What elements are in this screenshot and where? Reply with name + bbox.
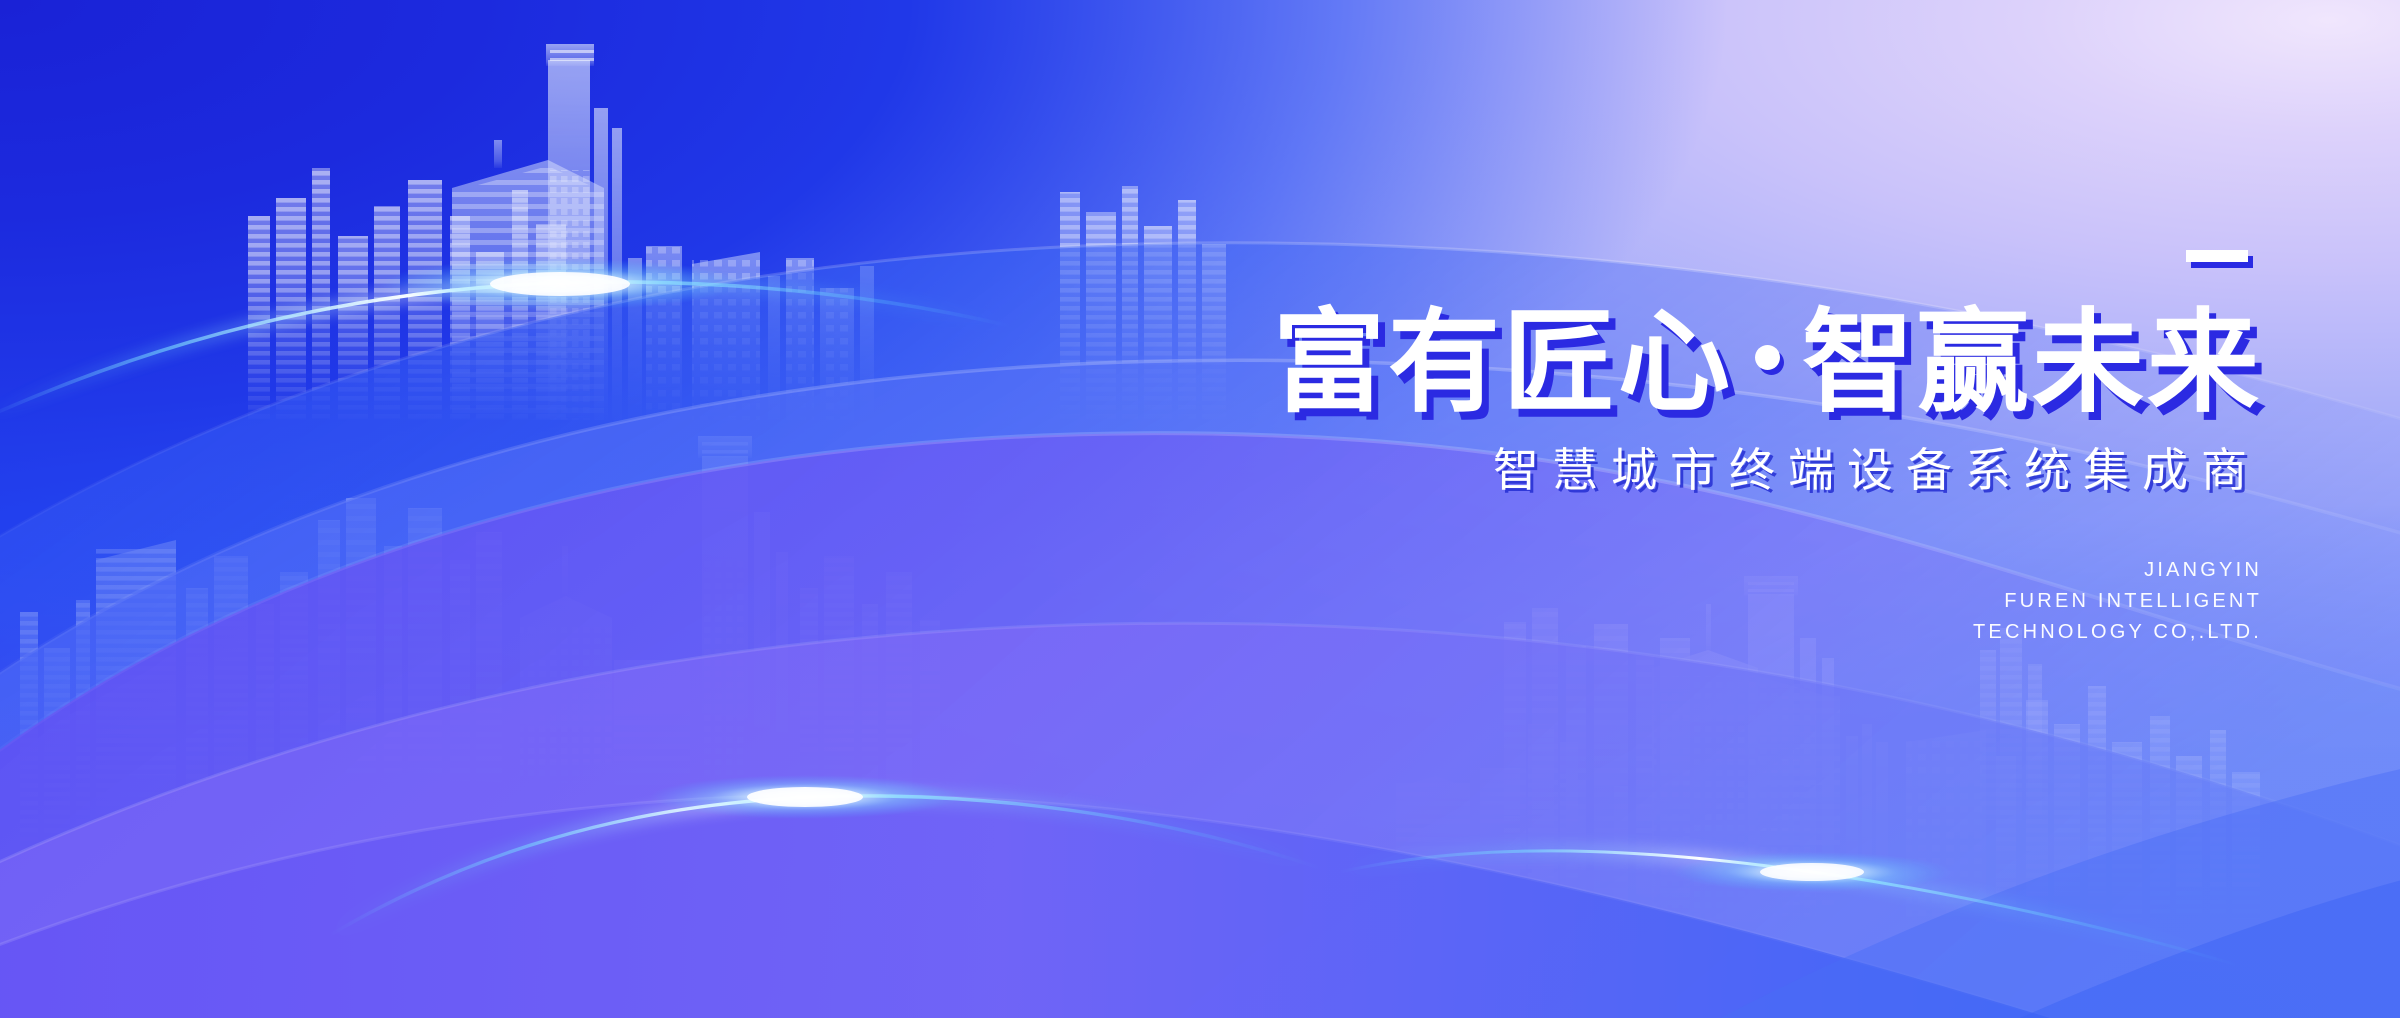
glow-arc-top-left bbox=[0, 258, 1010, 420]
company-line-3: TECHNOLOGY CO,.LTD. bbox=[1162, 617, 2262, 648]
title-part-1: 富有匠心 bbox=[1273, 300, 1733, 425]
company-line-1: JIANGYIN bbox=[1162, 555, 2262, 586]
company-name-block: JIANGYIN FUREN INTELLIGENT TECHNOLOGY CO… bbox=[1162, 555, 2262, 648]
horizontal-dash-icon bbox=[2186, 250, 2248, 262]
banner-text-block: 富有匠心智赢未来 智慧城市终端设备系统集成商 JIANGYIN FUREN IN… bbox=[1162, 250, 2262, 648]
title-part-2: 智赢未来 bbox=[1802, 300, 2262, 425]
page-subtitle: 智慧城市终端设备系统集成商 bbox=[1162, 447, 2262, 493]
company-line-2: FUREN INTELLIGENT bbox=[1162, 586, 2262, 617]
page-title: 富有匠心智赢未来 bbox=[1162, 307, 2262, 419]
company-banner: 富有匠心智赢未来 智慧城市终端设备系统集成商 JIANGYIN FUREN IN… bbox=[0, 0, 2400, 1018]
accent-dash-row bbox=[1162, 250, 2262, 307]
title-separator-dot-icon bbox=[1755, 345, 1780, 370]
glow-arc-bottom-center bbox=[330, 775, 1320, 935]
glow-arc-bottom-right bbox=[1340, 851, 2240, 966]
